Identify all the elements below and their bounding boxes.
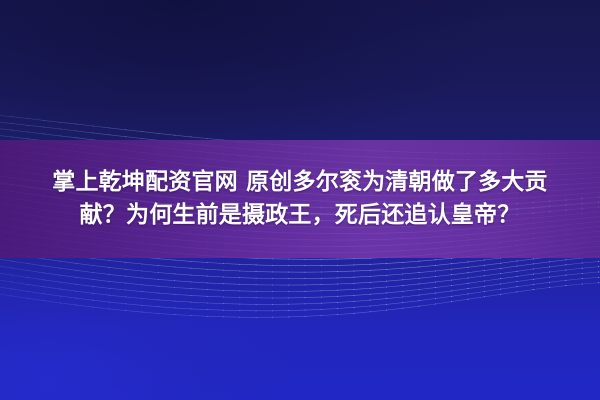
headline-text: 掌上乾坤配资官网 原创多尔衮为清朝做了多大贡 献？为何生前是摄政王，死后还追认皇… [0, 140, 600, 258]
headline-line-2: 献？为何生前是摄政王，死后还追认皇帝？ [80, 202, 521, 229]
banner-image: 掌上乾坤配资官网 原创多尔衮为清朝做了多大贡 献？为何生前是摄政王，死后还追认皇… [0, 0, 600, 400]
headline-line-1: 掌上乾坤配资官网 原创多尔衮为清朝做了多大贡 [52, 169, 547, 196]
